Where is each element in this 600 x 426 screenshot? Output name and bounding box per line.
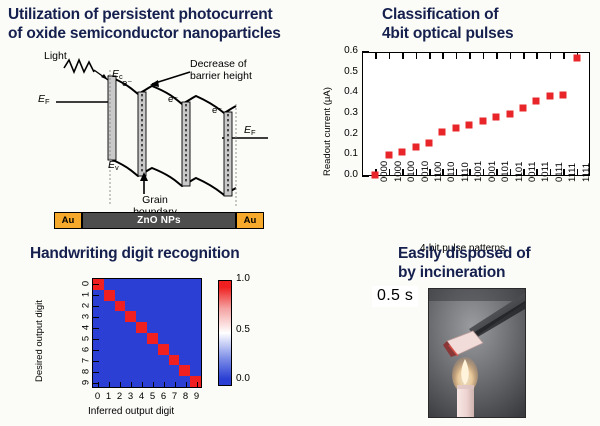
colorbar-tick: 0.0 (236, 373, 250, 384)
electrode-left-au: Au (54, 212, 82, 229)
panel-incineration: Easily disposed of by incineration 0.5 s (340, 238, 600, 426)
heatmap-cell (190, 365, 201, 376)
heatmap-x-tick: 2 (114, 391, 125, 402)
heatmap-x-tick-mark (164, 382, 165, 388)
heatmap-x-tick-mark (175, 382, 176, 388)
heatmap-x-tick-mark (131, 382, 132, 388)
barrier-annotation-line1: Decrease of (190, 58, 252, 70)
heatmap-cell (190, 290, 201, 301)
scatter-x-tick-mark (536, 169, 538, 176)
heatmap-cell (115, 279, 126, 290)
panel3-title: Handwriting digit recognition (30, 244, 330, 263)
heatmap-cell (115, 322, 126, 333)
grain-annotation-line1: Grain (120, 194, 190, 206)
heatmap-cell (104, 290, 115, 301)
electron-label-2: e⁻ (168, 94, 178, 105)
scatter-data-point (452, 125, 459, 132)
heatmap-cell (136, 322, 147, 333)
heatmap-y-tick: 6 (81, 343, 92, 355)
heatmap-cell (169, 290, 180, 301)
scatter-y-tick: 0.3 (332, 107, 358, 118)
heatmap-cell (104, 279, 115, 290)
heatmap-cell (190, 333, 201, 344)
time-stamp-label: 0.5 s (372, 286, 418, 307)
electron-label-3: e⁻ (212, 105, 222, 116)
heatmap-cell (125, 290, 136, 301)
heatmap-cell (115, 311, 126, 322)
scatter-x-category-label: 1111 (581, 163, 592, 182)
ef-left-label: EF (38, 93, 50, 106)
heatmap-cell (147, 322, 158, 333)
heatmap-x-tick-mark (153, 382, 154, 388)
panel2-title-line2: 4bit optical pulses (382, 24, 597, 43)
scatter-x-tick-mark (523, 52, 525, 59)
heatmap-cell (125, 279, 136, 290)
scatter-data-point (372, 171, 379, 178)
scatter-x-tick-mark (429, 169, 431, 176)
heatmap-cell (136, 301, 147, 312)
heatmap-cell (147, 290, 158, 301)
heatmap-cell (179, 365, 190, 376)
scatter-x-tick-mark (563, 52, 565, 59)
scatter-x-tick-mark (416, 169, 418, 176)
scatter-y-tick: 0.5 (332, 66, 358, 77)
valence-band-curve (108, 158, 236, 195)
heatmap-cell (158, 344, 169, 355)
heatmap-cell (179, 279, 190, 290)
scatter-data-point (466, 121, 473, 128)
scatter-x-tick-mark (469, 52, 471, 59)
heatmap-y-tick: 8 (81, 365, 92, 377)
heatmap-cell (125, 333, 136, 344)
scatter-x-tick-mark (550, 52, 552, 59)
heatmap-cell (125, 322, 136, 333)
heatmap-y-tick-mark (93, 350, 99, 351)
heatmap-y-tick: 5 (81, 332, 92, 344)
heatmap-cell (115, 290, 126, 301)
heatmap-y-tick-mark (93, 295, 99, 296)
panel2-title: Classification of 4bit optical pulses (382, 5, 597, 43)
electrode-guide-lines (110, 70, 236, 206)
scatter-x-tick-mark (456, 169, 458, 176)
heatmap-y-tick-mark (93, 306, 99, 307)
heatmap-cell (115, 344, 126, 355)
scatter-y-tick: 0.4 (332, 86, 358, 97)
heatmap-cell (104, 301, 115, 312)
scatter-data-point (479, 117, 486, 124)
panel1-title: Utilization of persistent photocurrent o… (8, 5, 308, 43)
heatmap-x-tick: 9 (191, 391, 202, 402)
heatmap-cell (115, 333, 126, 344)
heatmap-cell (179, 311, 190, 322)
panel1-title-line2: of oxide semiconductor nanoparticles (8, 24, 308, 43)
colorbar-tick: 1.0 (236, 273, 250, 284)
heatmap-x-tick-mark (120, 382, 121, 388)
heatmap-y-tick: 4 (81, 321, 92, 333)
heatmap-cell (104, 322, 115, 333)
heatmap-cell (169, 322, 180, 333)
heatmap-cell (115, 365, 126, 376)
heatmap-y-tick-mark (93, 372, 99, 373)
heatmap-cell (136, 333, 147, 344)
heatmap-cell (179, 344, 190, 355)
light-wave-icon (64, 60, 94, 72)
panel2-title-line1: Classification of (382, 5, 597, 24)
heatmap-cell (190, 311, 201, 322)
scatter-data-point (385, 152, 392, 159)
heatmap-cell (115, 355, 126, 366)
heatmap-cell (158, 333, 169, 344)
heatmap-cell (104, 365, 115, 376)
panel4-title-line1: Easily disposed of (398, 244, 598, 263)
scatter-x-tick-mark (510, 169, 512, 176)
heatmap-y-tick: 7 (81, 354, 92, 366)
heatmap-cell (169, 301, 180, 312)
scatter-x-tick-mark (375, 52, 377, 59)
channel-zno-nps: ZnO NPs (82, 212, 236, 229)
heatmap-cell (104, 355, 115, 366)
light-label: Light (44, 50, 67, 62)
heatmap-cell (169, 279, 180, 290)
heatmap-cell (125, 365, 136, 376)
scatter-y-tick: 0.0 (332, 169, 358, 180)
scatter-y-tick: 0.2 (332, 128, 358, 139)
scatter-data-point (493, 113, 500, 120)
heatmap-x-tick: 0 (92, 391, 103, 402)
scatter-x-tick-mark (402, 169, 404, 176)
heatmap-y-tick-mark (93, 328, 99, 329)
heatmap-x-tick: 8 (180, 391, 191, 402)
ef-right-label: EF (244, 124, 256, 137)
heatmap-cell (136, 344, 147, 355)
heatmap-cell (179, 301, 190, 312)
heatmap-cell (169, 333, 180, 344)
heatmap-cell (158, 311, 169, 322)
heatmap-cell (104, 344, 115, 355)
scatter-x-tick-mark (496, 169, 498, 176)
heatmap-cell (147, 333, 158, 344)
heatmap-x-tick-mark (142, 382, 143, 388)
heatmap-x-tick: 7 (169, 391, 180, 402)
scatter-data-point (560, 91, 567, 98)
scatter-x-tick-mark (442, 169, 444, 176)
heatmap-colorbar (218, 280, 232, 386)
heatmap-cell (190, 322, 201, 333)
candle-body (457, 385, 474, 417)
heatmap-y-tick: 1 (81, 288, 92, 300)
heatmap-y-tick-mark (93, 361, 99, 362)
scatter-x-tick-mark (496, 52, 498, 59)
scatter-plot-frame (362, 52, 590, 176)
scatter-x-tick-mark (402, 52, 404, 59)
scatter-data-point (573, 55, 580, 62)
scatter-x-tick-mark (523, 169, 525, 176)
heatmap-x-tick-mark (109, 382, 110, 388)
scatter-x-tick-mark (483, 169, 485, 176)
heatmap-x-tick: 1 (103, 391, 114, 402)
heatmap-x-tick-mark (197, 382, 198, 388)
scatter-data-point (546, 93, 553, 100)
scatter-data-point (399, 148, 406, 155)
heatmap-y-tick-mark (93, 317, 99, 318)
scatter-x-tick-mark (550, 169, 552, 176)
panel1-title-line1: Utilization of persistent photocurrent (8, 5, 308, 24)
colorbar-tick: 0.5 (236, 324, 250, 335)
heatmap-cell (125, 355, 136, 366)
heatmap-y-tick-mark (93, 284, 99, 285)
heatmap-cell (190, 301, 201, 312)
band-diagram-figure: Light Ec Ev EF EF e⁻ e⁻ e⁻ Decrease of b… (22, 46, 300, 234)
heatmap-cell (158, 322, 169, 333)
scatter-x-tick-mark (429, 52, 431, 59)
scatter-data-point (533, 97, 540, 104)
heatmap-cell (169, 365, 180, 376)
panel-digit-recognition: Handwriting digit recognition Desired ou… (0, 238, 340, 426)
heatmap-cell (136, 365, 147, 376)
scatter-x-tick-mark (577, 169, 579, 176)
heatmap-y-tick: 9 (81, 376, 92, 388)
scatter-x-tick-mark (389, 169, 391, 176)
heatmap-x-axis-label: Inferred output digit (88, 406, 174, 417)
heatmap-cell (125, 311, 136, 322)
barrier-height-annotation: Decrease of barrier height (190, 58, 252, 82)
ev-label: Ev (108, 159, 119, 172)
heatmap-cell (158, 301, 169, 312)
heatmap-y-tick: 3 (81, 310, 92, 322)
heatmap-x-tick: 5 (147, 391, 158, 402)
incineration-photo (428, 288, 526, 418)
incineration-photo-svg (429, 289, 525, 417)
electron-label-1: e⁻ (122, 78, 132, 89)
heatmap-y-tick: 2 (81, 299, 92, 311)
panel4-title: Easily disposed of by incineration (398, 244, 598, 282)
heatmap-cell (158, 365, 169, 376)
heatmap-cell (179, 290, 190, 301)
heatmap-cell (190, 355, 201, 366)
heatmap-cell (136, 290, 147, 301)
electrode-right-au: Au (236, 212, 264, 229)
heatmap-cell (147, 344, 158, 355)
heatmap-cell (147, 355, 158, 366)
heatmap-cell (125, 301, 136, 312)
heatmap-cell (115, 301, 126, 312)
scatter-data-point (426, 140, 433, 147)
scatter-x-tick-mark (416, 52, 418, 59)
heatmap-cell (136, 311, 147, 322)
heatmap-y-tick: 0 (81, 277, 92, 289)
heatmap-y-tick-mark (93, 339, 99, 340)
scatter-data-point (439, 129, 446, 136)
heatmap-y-axis-label: Desired output digit (34, 300, 45, 382)
heatmap-cell (158, 355, 169, 366)
heatmap-x-tick: 6 (158, 391, 169, 402)
heatmap-cell (136, 355, 147, 366)
heatmap-cell (190, 279, 201, 290)
heatmap-cell (104, 333, 115, 344)
heatmap-cell (190, 344, 201, 355)
heatmap-cell (147, 311, 158, 322)
heatmap-cell (147, 365, 158, 376)
scatter-data-point (412, 143, 419, 150)
heatmap-cell (158, 290, 169, 301)
panel4-title-line2: by incineration (398, 263, 598, 282)
heatmap-cell (169, 355, 180, 366)
scatter-x-tick-mark (469, 169, 471, 176)
heatmap-x-tick-mark (186, 382, 187, 388)
scatter-x-tick-mark (483, 52, 485, 59)
panel-classification-scatter: Classification of 4bit optical pulses Re… (310, 0, 600, 238)
scatter-x-tick-mark (389, 52, 391, 59)
scatter-x-tick-mark (563, 169, 565, 176)
heatmap-cell (169, 311, 180, 322)
heatmap-x-tick: 4 (136, 391, 147, 402)
heatmap-cell (179, 355, 190, 366)
heatmap-cell (147, 279, 158, 290)
scatter-x-tick-mark (456, 52, 458, 59)
scatter-data-point (519, 104, 526, 111)
scatter-x-tick-mark (536, 52, 538, 59)
heatmap-cell (179, 322, 190, 333)
panel-band-diagram: Utilization of persistent photocurrent o… (0, 0, 310, 238)
heatmap-cell (125, 344, 136, 355)
heatmap-cell (136, 279, 147, 290)
heatmap-cell (158, 279, 169, 290)
scatter-x-tick-mark (510, 52, 512, 59)
heatmap-cell (147, 301, 158, 312)
heatmap-x-tick-mark (98, 382, 99, 388)
heatmap-x-tick: 3 (125, 391, 136, 402)
confusion-matrix-grid (92, 278, 202, 388)
heatmap-cell (179, 333, 190, 344)
scatter-data-point (506, 111, 513, 118)
heatmap-cell (104, 311, 115, 322)
scatter-y-tick: 0.1 (332, 148, 358, 159)
heatmap-cell (169, 344, 180, 355)
scatter-x-tick-mark (442, 52, 444, 59)
scatter-y-tick: 0.6 (332, 45, 358, 56)
barrier-annotation-line2: barrier height (190, 70, 252, 82)
